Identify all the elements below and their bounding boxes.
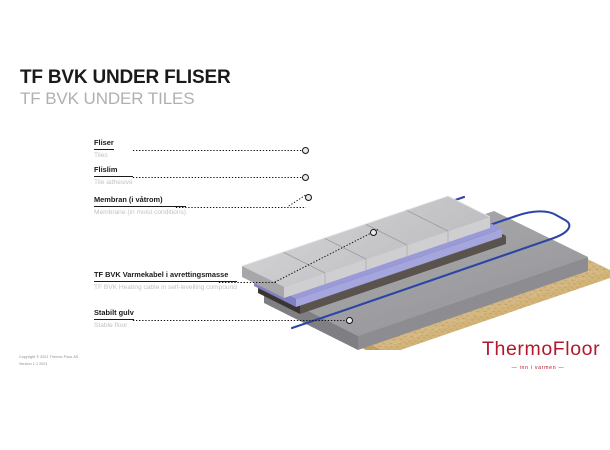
label-heating-cable-rule xyxy=(94,281,237,282)
label-tile-adhesive-no: Flislim xyxy=(94,166,133,176)
marker-stable-floor xyxy=(346,317,353,324)
label-membrane-en: Membrane (in moist conditions) xyxy=(94,209,186,217)
leader-line-membrane xyxy=(175,207,306,208)
label-tiles-rule xyxy=(94,149,114,150)
label-tiles-no: Fliser xyxy=(94,139,114,149)
label-heating-cable: TF BVK Varmekabel i avrettingsmasse TF B… xyxy=(94,271,237,292)
label-tile-adhesive-en: Tile adhesive xyxy=(94,179,133,187)
label-heating-cable-en: TF BVK Heating cable in self-levelling c… xyxy=(94,284,237,292)
leader-line-stable-floor xyxy=(132,320,347,321)
label-stable-floor-no: Stabilt gulv xyxy=(94,309,134,319)
version-text: Version 1.1 2021 xyxy=(19,361,78,368)
logo-wordmark: ThermoFloor xyxy=(482,340,594,360)
label-membrane-rule xyxy=(94,206,186,207)
label-stable-floor-rule xyxy=(94,319,134,320)
marker-heating-cable xyxy=(370,229,377,236)
label-tile-adhesive: Flislim Tile adhesive xyxy=(94,166,133,187)
label-stable-floor-en: Stable floor xyxy=(94,322,134,330)
marker-tile-adhesive xyxy=(302,174,309,181)
logo-tagline: — inn i varmen — xyxy=(482,365,594,371)
page-title: TF BVK UNDER FLISER TF BVK UNDER TILES xyxy=(20,68,230,109)
label-stable-floor: Stabilt gulv Stable floor xyxy=(94,309,134,330)
copyright-text: Copyright © 2021 Thermo Floor AS xyxy=(19,354,78,361)
diagram-page: TF BVK UNDER FLISER TF BVK UNDER TILES xyxy=(0,0,610,450)
thermofloor-logo: ThermoFloor — inn i varmen — xyxy=(482,340,594,371)
label-tiles-en: Tiles xyxy=(94,152,114,160)
marker-tiles xyxy=(302,147,309,154)
label-tiles: Fliser Tiles xyxy=(94,139,114,160)
leader-line-tile-adhesive xyxy=(132,177,303,178)
floor-construction-illustration xyxy=(228,118,610,350)
title-english: TF BVK UNDER TILES xyxy=(20,90,230,109)
label-heating-cable-no: TF BVK Varmekabel i avrettingsmasse xyxy=(94,271,237,281)
label-membrane-no: Membran (i våtrom) xyxy=(94,196,186,206)
label-tile-adhesive-rule xyxy=(94,176,133,177)
title-norwegian: TF BVK UNDER FLISER xyxy=(20,68,230,88)
copyright-block: Copyright © 2021 Thermo Floor AS Version… xyxy=(19,354,78,368)
label-membrane: Membran (i våtrom) Membrane (in moist co… xyxy=(94,196,186,217)
leader-line-tiles xyxy=(132,150,303,151)
